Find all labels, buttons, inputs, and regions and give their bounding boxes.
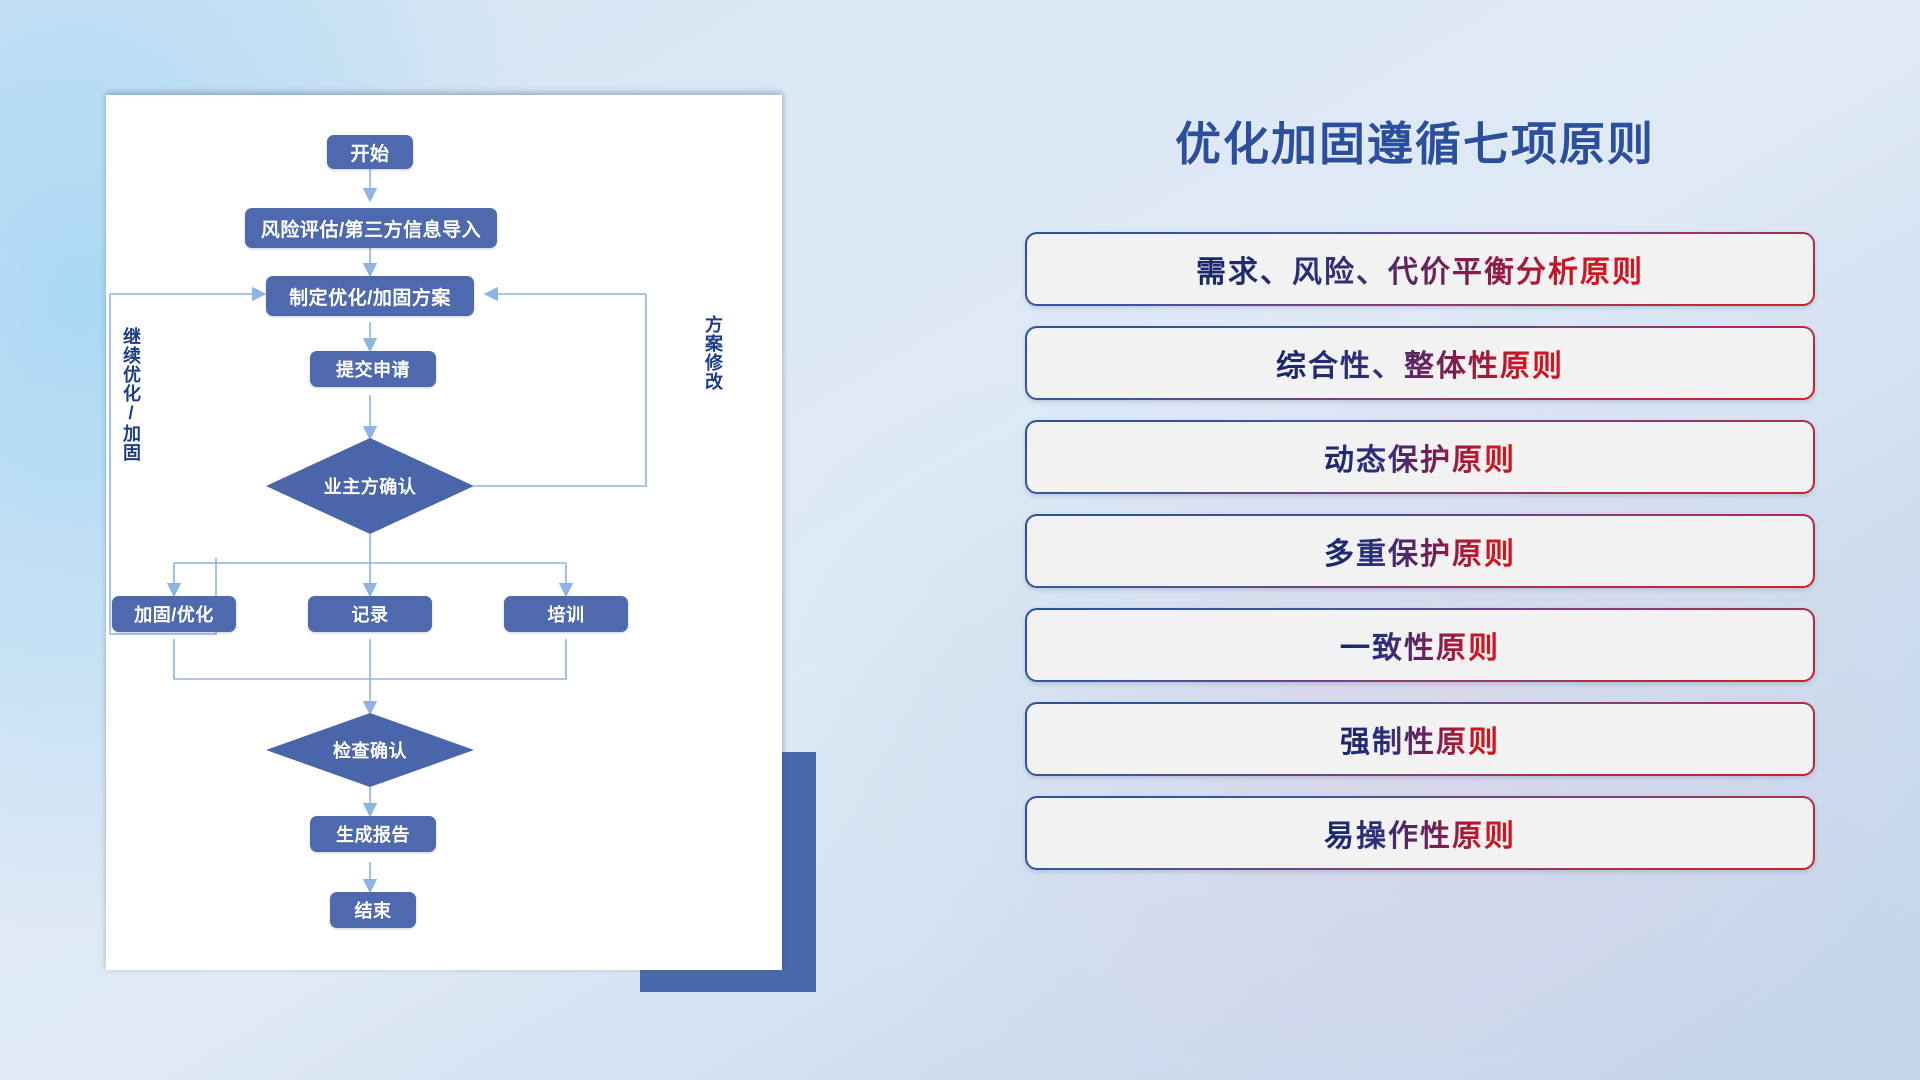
flow-side-label-left: 继续优化/加固 (122, 327, 140, 462)
principle-card[interactable]: 多重保护原则 (1025, 514, 1815, 588)
slide-canvas: 继续优化/加固 方案修改 开始 风险评估/第三方信息导入 制定优化/加固方案 提… (0, 0, 1920, 1080)
principle-card[interactable]: 一致性原则 (1025, 608, 1815, 682)
principle-card-label: 易操作性原则 (1324, 811, 1516, 855)
flow-node-risk-assessment[interactable]: 风险评估/第三方信息导入 (245, 208, 497, 248)
principle-card[interactable]: 综合性、整体性原则 (1025, 326, 1815, 400)
principle-card-label: 多重保护原则 (1324, 529, 1516, 573)
principle-card-inner: 需求、风险、代价平衡分析原则 (1027, 234, 1813, 304)
principle-card-inner: 多重保护原则 (1027, 516, 1813, 586)
principle-card-inner: 易操作性原则 (1027, 798, 1813, 868)
flow-node-submit-application[interactable]: 提交申请 (310, 351, 436, 387)
flow-node-start[interactable]: 开始 (327, 135, 413, 169)
flow-decision-inspection-confirm[interactable]: 检查确认 (266, 713, 474, 787)
principle-card-label: 动态保护原则 (1324, 435, 1516, 479)
principles-panel: 优化加固遵循七项原则 需求、风险、代价平衡分析原则 综合性、整体性原则 动态保护… (1020, 100, 1850, 1000)
principle-card-inner: 一致性原则 (1027, 610, 1813, 680)
flow-node-end[interactable]: 结束 (330, 892, 416, 928)
principle-card-label: 综合性、整体性原则 (1276, 341, 1564, 385)
principle-card-label: 需求、风险、代价平衡分析原则 (1196, 247, 1644, 291)
principle-card-label: 强制性原则 (1340, 717, 1500, 761)
flow-node-generate-report[interactable]: 生成报告 (310, 816, 436, 852)
principle-card[interactable]: 易操作性原则 (1025, 796, 1815, 870)
flow-decision-inspection-confirm-label: 检查确认 (266, 713, 474, 787)
principle-card[interactable]: 需求、风险、代价平衡分析原则 (1025, 232, 1815, 306)
flow-decision-owner-confirm[interactable]: 业主方确认 (266, 438, 474, 534)
principle-card-label: 一致性原则 (1340, 623, 1500, 667)
principles-card-list: 需求、风险、代价平衡分析原则 综合性、整体性原则 动态保护原则 多重保护原则 (1025, 232, 1815, 890)
flow-decision-owner-confirm-label: 业主方确认 (266, 438, 474, 534)
principle-card[interactable]: 强制性原则 (1025, 702, 1815, 776)
flow-node-reinforce[interactable]: 加固/优化 (112, 596, 236, 632)
principle-card[interactable]: 动态保护原则 (1025, 420, 1815, 494)
principle-card-inner: 动态保护原则 (1027, 422, 1813, 492)
flow-node-plan[interactable]: 制定优化/加固方案 (266, 276, 474, 316)
panel-title: 优化加固遵循七项原则 (1020, 108, 1810, 174)
flowchart-panel: 继续优化/加固 方案修改 开始 风险评估/第三方信息导入 制定优化/加固方案 提… (106, 95, 782, 970)
flow-side-label-right: 方案修改 (704, 315, 722, 391)
principle-card-inner: 强制性原则 (1027, 704, 1813, 774)
flow-node-training[interactable]: 培训 (504, 596, 628, 632)
flow-node-record[interactable]: 记录 (308, 596, 432, 632)
principle-card-inner: 综合性、整体性原则 (1027, 328, 1813, 398)
